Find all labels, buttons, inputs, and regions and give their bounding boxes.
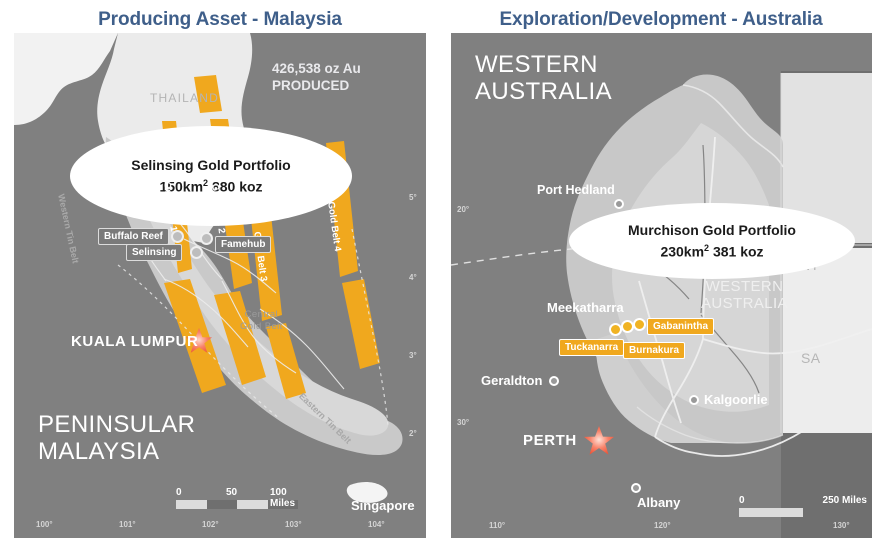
callout-selinsing: Selinsing Gold Portfolio 150km2 880 koz	[70, 126, 352, 226]
panel-malaysia: Producing Asset - Malaysia	[0, 0, 440, 551]
scale-seg-1	[176, 500, 207, 509]
scalebar-bar-australia	[739, 508, 867, 517]
callout-bubble-murchison: Murchison Gold Portfolio 230km2 381 koz	[569, 203, 855, 279]
city-marker-kalgoorlie[interactable]	[689, 395, 699, 405]
city-marker-port-hedland[interactable]	[614, 199, 624, 209]
callout-resource-murchison: 381 koz	[713, 244, 764, 260]
scale-seg-2-au	[803, 508, 867, 517]
scalebar-malaysia: 0 50 100 Miles	[176, 487, 298, 509]
panel-australia: Exploration/Development - Australia	[441, 0, 881, 551]
callout-area-murchison: 230km	[660, 244, 704, 260]
scale-tick-50: 50	[226, 487, 237, 498]
callout-bubble-selinsing: Selinsing Gold Portfolio 150km2 880 koz	[70, 126, 352, 226]
project-label-gabanintha[interactable]: Gabanintha	[647, 318, 714, 335]
project-label-tuckanarra[interactable]: Tuckanarra	[559, 339, 624, 356]
scale-tick-0-au: 0	[739, 495, 745, 506]
production-stat-label: PRODUCED	[272, 77, 361, 94]
production-stat: 426,538 oz Au PRODUCED	[272, 60, 361, 94]
scale-seg-1-au	[739, 508, 803, 517]
malaysia-geometry	[14, 33, 426, 538]
callout-line-2-murchison: 230km2 381 koz	[660, 239, 763, 261]
scale-seg-3	[237, 500, 268, 509]
scalebar-numbers-australia: 0 250 Miles	[739, 495, 867, 508]
capital-star-perth	[584, 426, 614, 456]
scalebar-australia: 0 250 Miles	[739, 495, 867, 517]
scale-tick-250-au: 250 Miles	[823, 495, 867, 506]
site-marker-selinsing[interactable]	[190, 246, 203, 259]
callout-area-sup-murchison: 2	[704, 243, 709, 253]
production-stat-amount: 426,538 oz Au	[272, 60, 361, 77]
map-australia[interactable]: WESTERN AUSTRALIA WESTERN AUSTRALIA NT S…	[451, 33, 872, 538]
scale-tick-100: 100 Miles	[270, 487, 298, 509]
site-marker-famehub[interactable]	[200, 232, 213, 245]
callout-murchison: Murchison Gold Portfolio 230km2 381 koz	[569, 203, 855, 279]
map-malaysia[interactable]: Selinsing Gold Portfolio 150km2 880 koz …	[14, 33, 426, 538]
panel-title-australia: Exploration/Development - Australia	[441, 9, 881, 31]
callout-line-1: Selinsing Gold Portfolio	[131, 156, 290, 174]
scale-seg-2	[207, 500, 238, 509]
site-label-selinsing[interactable]: Selinsing	[126, 244, 182, 261]
slide-root: Producing Asset - Malaysia	[0, 0, 881, 551]
capital-star-kuala-lumpur	[186, 328, 212, 354]
city-marker-geraldton[interactable]	[549, 376, 559, 386]
panel-title-malaysia: Producing Asset - Malaysia	[0, 9, 440, 31]
project-marker-burnakura[interactable]	[621, 320, 634, 333]
city-marker-albany[interactable]	[631, 483, 641, 493]
scalebar-numbers-malaysia: 0 50 100 Miles	[176, 487, 298, 500]
scale-tick-0: 0	[176, 487, 182, 498]
callout-area-sup: 2	[203, 178, 208, 188]
site-label-buffalo-reef[interactable]: Buffalo Reef	[98, 228, 169, 245]
site-label-famehub[interactable]: Famehub	[215, 236, 271, 253]
callout-line-1-murchison: Murchison Gold Portfolio	[628, 221, 796, 239]
site-marker-buffalo-reef[interactable]	[171, 230, 184, 243]
project-marker-gabanintha[interactable]	[633, 318, 646, 331]
australia-geometry	[451, 33, 872, 538]
project-label-burnakura[interactable]: Burnakura	[623, 342, 685, 359]
